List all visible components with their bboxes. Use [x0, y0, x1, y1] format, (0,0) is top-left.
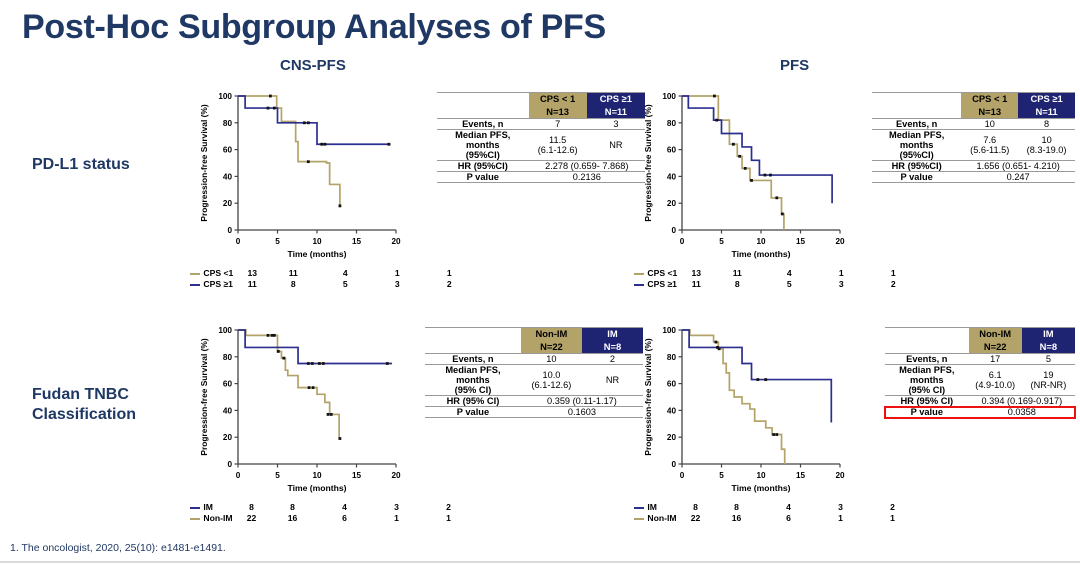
stats-table-pdl1-cns: CPS < 1N=13CPS ≥1N=11Events, n73Median P… — [437, 92, 645, 185]
svg-text:Time (months): Time (months) — [731, 483, 790, 493]
risk-count: 5 — [763, 279, 815, 290]
stats-header-blank — [885, 328, 969, 354]
svg-text:20: 20 — [391, 237, 401, 246]
km-chart-pdl1-cns: 02040608010005101520Time (months)Progres… — [196, 88, 404, 270]
stats-row-label: Events, n — [872, 119, 961, 130]
column-header-pfs: PFS — [780, 57, 809, 74]
row-label-line1: Fudan TNBC — [32, 386, 129, 403]
svg-text:80: 80 — [223, 119, 233, 128]
risk-count: 16 — [711, 513, 763, 524]
risk-table: IM88432 Non-IM2216611 — [190, 502, 475, 524]
stats-group-header: Non-IMN=22 — [521, 328, 582, 354]
stats-row-value: 2.278 (0.659- 7.868) — [529, 161, 645, 172]
svg-text:Progression-free Survival (%): Progression-free Survival (%) — [199, 104, 209, 221]
stats-row-label: HR (95% CI) — [425, 396, 521, 407]
stats-table: CPS < 1N=13CPS ≥1N=11Events, n73Median P… — [437, 92, 645, 185]
stats-row-label: Median PFS,months(95% CI) — [425, 365, 521, 396]
risk-count: 3 — [371, 279, 423, 290]
svg-text:40: 40 — [667, 406, 677, 415]
stats-row-value: 10(8.3-19.0) — [1018, 130, 1075, 161]
risk-count: 2 — [423, 502, 475, 513]
risk-count: 22 — [237, 513, 267, 524]
stats-group-header: IMN=8 — [582, 328, 643, 354]
stats-table-row: P value0.0358 — [885, 407, 1075, 418]
stats-row-label: Events, n — [437, 119, 529, 130]
svg-text:60: 60 — [667, 146, 677, 155]
stats-group-header: CPS ≥1N=11 — [587, 93, 645, 119]
svg-text:40: 40 — [223, 172, 233, 181]
stats-row-label: Events, n — [885, 354, 969, 365]
stats-table-row: HR (95%CI)2.278 (0.659- 7.868) — [437, 161, 645, 172]
km-chart-fudan-cns: 02040608010005101520Time (months)Progres… — [196, 322, 404, 504]
risk-table-row: Non-IM2216611 — [190, 513, 475, 524]
stats-row-label: Median PFS,months(95%CI) — [437, 130, 529, 161]
stats-table-row: HR (95% CI)0.359 (0.11-1.17) — [425, 396, 643, 407]
stats-table-bottom-rule — [872, 183, 1075, 186]
risk-count: 1 — [371, 268, 423, 279]
svg-text:Time (months): Time (months) — [731, 249, 790, 259]
stats-table-row: Events, n73 — [437, 119, 645, 130]
svg-text:20: 20 — [835, 471, 845, 480]
stats-row-label: HR (95% CI) — [885, 396, 969, 407]
risk-count: 1 — [867, 513, 919, 524]
stats-table-row: HR (95% CI)0.394 (0.169-0.917) — [885, 396, 1075, 407]
risk-count: 16 — [267, 513, 319, 524]
risk-table-row: CPS <11311411 — [634, 268, 919, 279]
stats-table-header-row: Non-IMN=22IMN=8 — [885, 328, 1075, 354]
stats-row-label: P value — [425, 407, 521, 418]
svg-text:20: 20 — [223, 199, 233, 208]
svg-text:60: 60 — [667, 380, 677, 389]
svg-text:100: 100 — [218, 326, 232, 335]
svg-text:0: 0 — [227, 460, 232, 469]
risk-count: 1 — [815, 513, 867, 524]
svg-text:100: 100 — [218, 92, 232, 101]
svg-text:Progression-free Survival (%): Progression-free Survival (%) — [643, 338, 653, 455]
stats-row-label: P value — [872, 172, 961, 183]
svg-text:20: 20 — [223, 433, 233, 442]
row-label-line2: Classification — [32, 406, 136, 423]
risk-count: 1 — [423, 513, 475, 524]
svg-text:40: 40 — [667, 172, 677, 181]
svg-text:20: 20 — [835, 237, 845, 246]
svg-text:15: 15 — [352, 471, 362, 480]
svg-text:0: 0 — [671, 460, 676, 469]
stats-row-value: 0.2136 — [529, 172, 645, 183]
stats-group-header: CPS ≥1N=11 — [1018, 93, 1075, 119]
svg-text:20: 20 — [667, 433, 677, 442]
svg-text:40: 40 — [223, 406, 233, 415]
risk-count: 8 — [267, 502, 319, 513]
stats-table-fudan-cns: Non-IMN=22IMN=8Events, n102Median PFS,mo… — [425, 327, 643, 420]
svg-text:80: 80 — [223, 353, 233, 362]
stats-table-row: Median PFS,months(95%CI)11.5(6.1-12.6)NR — [437, 130, 645, 161]
stats-group-header: IMN=8 — [1022, 328, 1075, 354]
svg-text:10: 10 — [756, 237, 766, 246]
stats-row-label: P value — [885, 407, 969, 418]
risk-count: 3 — [815, 279, 867, 290]
stats-row-value: 11.5(6.1-12.6) — [529, 130, 587, 161]
stats-table: Non-IMN=22IMN=8Events, n175Median PFS,mo… — [885, 327, 1075, 420]
risk-count: 11 — [267, 268, 319, 279]
stats-row-value: 5 — [1022, 354, 1075, 365]
stats-group-header: CPS < 1N=13 — [529, 93, 587, 119]
stats-row-value: 10 — [961, 119, 1018, 130]
stats-header-blank — [425, 328, 521, 354]
risk-count: 13 — [237, 268, 267, 279]
risk-count: 2 — [423, 279, 475, 290]
risk-row-label: CPS ≥1 — [634, 279, 681, 290]
stats-row-value: 0.359 (0.11-1.17) — [521, 396, 643, 407]
risk-count: 1 — [371, 513, 423, 524]
stats-row-value: 10.0(6.1-12.6) — [521, 365, 582, 396]
risk-count: 6 — [319, 513, 371, 524]
stats-row-value: 0.0358 — [969, 407, 1075, 418]
svg-text:Progression-free Survival (%): Progression-free Survival (%) — [199, 338, 209, 455]
stats-table-row: P value0.2136 — [437, 172, 645, 183]
stats-row-value: 19(NR-NR) — [1022, 365, 1075, 396]
svg-text:80: 80 — [667, 353, 677, 362]
risk-count: 6 — [763, 513, 815, 524]
risk-row-label: Non-IM — [190, 513, 237, 524]
risk-table-row: IM88432 — [634, 502, 919, 513]
stats-table-header-row: Non-IMN=22IMN=8 — [425, 328, 643, 354]
risk-row-label: Non-IM — [634, 513, 681, 524]
row-label-fudan-tnbc-classification: Fudan TNBC Classification — [32, 385, 136, 425]
risk-table-row: CPS ≥1118532 — [190, 279, 475, 290]
svg-text:10: 10 — [312, 237, 322, 246]
stats-row-value: 6.1(4.9-10.0) — [969, 365, 1022, 396]
risk-count: 1 — [423, 268, 475, 279]
svg-text:0: 0 — [227, 226, 232, 235]
svg-text:10: 10 — [312, 471, 322, 480]
risk-table-row: Non-IM2216611 — [634, 513, 919, 524]
stats-row-value: 7.6(5.6-11.5) — [961, 130, 1018, 161]
row-label-pdl1-status: PD-L1 status — [32, 155, 130, 175]
series-marker-icon — [634, 268, 645, 278]
risk-count: 2 — [867, 502, 919, 513]
stats-row-label: HR (95%CI) — [872, 161, 961, 172]
risk-table-fudan-cns: IM88432 Non-IM2216611 — [190, 502, 475, 524]
stats-table-header-row: CPS < 1N=13CPS ≥1N=11 — [872, 93, 1075, 119]
svg-text:60: 60 — [223, 146, 233, 155]
stats-header-blank — [437, 93, 529, 119]
risk-table: IM88432 Non-IM2216611 — [634, 502, 919, 524]
risk-row-label: CPS <1 — [190, 268, 237, 279]
stats-row-value: 0.1603 — [521, 407, 643, 418]
svg-text:0: 0 — [236, 471, 241, 480]
svg-text:20: 20 — [391, 471, 401, 480]
stats-group-header: Non-IMN=22 — [969, 328, 1022, 354]
svg-text:10: 10 — [756, 471, 766, 480]
risk-count: 11 — [681, 279, 711, 290]
risk-count: 8 — [237, 502, 267, 513]
svg-text:15: 15 — [796, 237, 806, 246]
risk-count: 22 — [681, 513, 711, 524]
risk-row-label: IM — [190, 502, 237, 513]
svg-text:5: 5 — [275, 471, 280, 480]
stats-table-row: Events, n102 — [425, 354, 643, 365]
stats-row-label: P value — [437, 172, 529, 183]
stats-row-label: Events, n — [425, 354, 521, 365]
stats-row-label: HR (95%CI) — [437, 161, 529, 172]
stats-row-value: 0.394 (0.169-0.917) — [969, 396, 1075, 407]
svg-text:15: 15 — [796, 471, 806, 480]
footer-divider — [0, 561, 1080, 563]
stats-table-bottom-rule — [885, 418, 1075, 421]
risk-count: 8 — [267, 279, 319, 290]
series-marker-icon — [190, 279, 201, 289]
svg-text:100: 100 — [662, 326, 676, 335]
risk-count: 1 — [867, 268, 919, 279]
risk-table-row: CPS ≥1118532 — [634, 279, 919, 290]
km-chart-fudan-pfs: 02040608010005101520Time (months)Progres… — [640, 322, 848, 504]
risk-table: CPS <11311411 CPS ≥1118532 — [634, 268, 919, 290]
risk-table-row: CPS <11311411 — [190, 268, 475, 279]
stats-table-row: HR (95%CI)1.656 (0.651- 4.210) — [872, 161, 1075, 172]
svg-text:0: 0 — [680, 237, 685, 246]
stats-table-row: P value0.1603 — [425, 407, 643, 418]
svg-text:80: 80 — [667, 119, 677, 128]
risk-row-label: IM — [634, 502, 681, 513]
stats-row-value: 1.656 (0.651- 4.210) — [961, 161, 1075, 172]
risk-count: 1 — [815, 268, 867, 279]
page-title: Post-Hoc Subgroup Analyses of PFS — [22, 8, 606, 47]
svg-text:Time (months): Time (months) — [287, 249, 346, 259]
risk-count: 8 — [681, 502, 711, 513]
series-marker-icon — [190, 502, 201, 512]
risk-count: 4 — [763, 268, 815, 279]
risk-table-pdl1-pfs: CPS <11311411 CPS ≥1118532 — [634, 268, 919, 290]
footnote: 1. The oncologist, 2020, 25(10): e1481-e… — [10, 542, 226, 554]
risk-row-label: CPS <1 — [634, 268, 681, 279]
stats-header-blank — [872, 93, 961, 119]
svg-text:0: 0 — [680, 471, 685, 480]
stats-table-row: Median PFS,months(95% CI)10.0(6.1-12.6)N… — [425, 365, 643, 396]
risk-count: 3 — [371, 502, 423, 513]
series-marker-icon — [190, 268, 201, 278]
stats-row-value: NR — [587, 130, 645, 161]
risk-count: 4 — [763, 502, 815, 513]
risk-count: 4 — [319, 502, 371, 513]
km-chart-pdl1-pfs: 02040608010005101520Time (months)Progres… — [640, 88, 848, 270]
svg-text:5: 5 — [719, 237, 724, 246]
svg-text:Time (months): Time (months) — [287, 483, 346, 493]
stats-table-header-row: CPS < 1N=13CPS ≥1N=11 — [437, 93, 645, 119]
svg-text:15: 15 — [352, 237, 362, 246]
stats-table-row: P value0.247 — [872, 172, 1075, 183]
stats-table-bottom-rule — [425, 418, 643, 421]
stats-table: CPS < 1N=13CPS ≥1N=11Events, n108Median … — [872, 92, 1075, 185]
stats-table-row: Events, n175 — [885, 354, 1075, 365]
svg-text:100: 100 — [662, 92, 676, 101]
stats-row-value: 10 — [521, 354, 582, 365]
svg-text:5: 5 — [275, 237, 280, 246]
stats-row-value: 8 — [1018, 119, 1075, 130]
series-marker-icon — [190, 513, 201, 523]
risk-count: 3 — [815, 502, 867, 513]
risk-count: 8 — [711, 502, 763, 513]
svg-text:20: 20 — [667, 199, 677, 208]
stats-row-value: 3 — [587, 119, 645, 130]
column-header-cns-pfs: CNS-PFS — [280, 57, 346, 74]
risk-count: 11 — [237, 279, 267, 290]
stats-table-row: Events, n108 — [872, 119, 1075, 130]
series-marker-icon — [634, 279, 645, 289]
risk-count: 2 — [867, 279, 919, 290]
risk-table: CPS <11311411 CPS ≥1118532 — [190, 268, 475, 290]
svg-text:0: 0 — [236, 237, 241, 246]
series-marker-icon — [634, 502, 645, 512]
stats-table-row: Median PFS,months(95%CI)7.6(5.6-11.5)10(… — [872, 130, 1075, 161]
risk-count: 8 — [711, 279, 763, 290]
stats-row-value: 2 — [582, 354, 643, 365]
risk-row-label: CPS ≥1 — [190, 279, 237, 290]
svg-text:0: 0 — [671, 226, 676, 235]
risk-table-row: IM88432 — [190, 502, 475, 513]
stats-table-bottom-rule — [437, 183, 645, 186]
stats-row-value: 0.247 — [961, 172, 1075, 183]
risk-count: 13 — [681, 268, 711, 279]
stats-row-value: NR — [582, 365, 643, 396]
stats-row-label: Median PFS,months(95% CI) — [885, 365, 969, 396]
risk-count: 5 — [319, 279, 371, 290]
stats-table-fudan-pfs: Non-IMN=22IMN=8Events, n175Median PFS,mo… — [885, 327, 1075, 420]
stats-row-label: Median PFS,months(95%CI) — [872, 130, 961, 161]
svg-text:5: 5 — [719, 471, 724, 480]
stats-table: Non-IMN=22IMN=8Events, n102Median PFS,mo… — [425, 327, 643, 420]
stats-row-value: 17 — [969, 354, 1022, 365]
risk-count: 11 — [711, 268, 763, 279]
stats-row-value: 7 — [529, 119, 587, 130]
stats-group-header: CPS < 1N=13 — [961, 93, 1018, 119]
series-marker-icon — [634, 513, 645, 523]
risk-table-pdl1-cns: CPS <11311411 CPS ≥1118532 — [190, 268, 475, 290]
stats-table-pdl1-pfs: CPS < 1N=13CPS ≥1N=11Events, n108Median … — [872, 92, 1075, 185]
svg-text:60: 60 — [223, 380, 233, 389]
risk-table-fudan-pfs: IM88432 Non-IM2216611 — [634, 502, 919, 524]
slide: Post-Hoc Subgroup Analyses of PFS CNS-PF… — [0, 0, 1080, 564]
risk-count: 4 — [319, 268, 371, 279]
stats-table-row: Median PFS,months(95% CI)6.1(4.9-10.0)19… — [885, 365, 1075, 396]
